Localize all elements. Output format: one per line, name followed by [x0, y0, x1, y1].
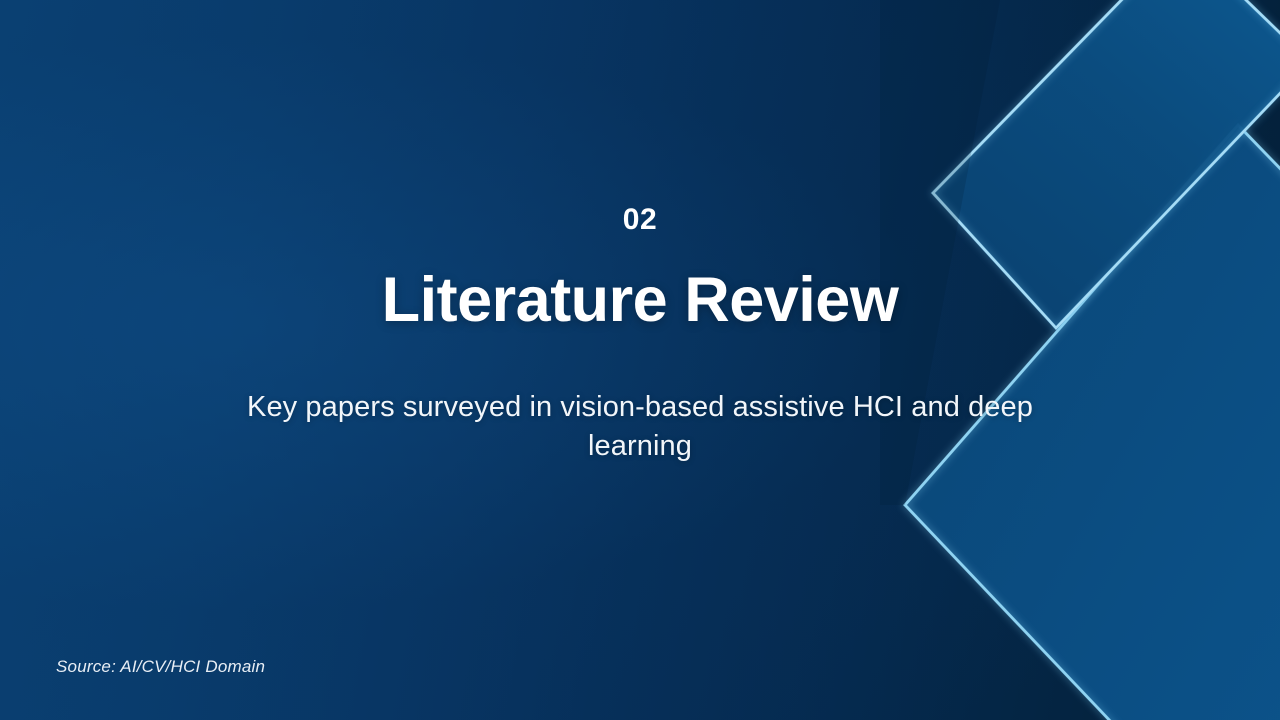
- presentation-slide: 02 Literature Review Key papers surveyed…: [0, 0, 1280, 720]
- page-title: Literature Review: [0, 262, 1280, 338]
- slide-content: 02 Literature Review Key papers surveyed…: [0, 0, 1280, 720]
- slide-subtitle: Key papers surveyed in vision-based assi…: [210, 388, 1070, 466]
- source-caption: Source: AI/CV/HCI Domain: [56, 657, 265, 677]
- section-number: 02: [0, 200, 1280, 240]
